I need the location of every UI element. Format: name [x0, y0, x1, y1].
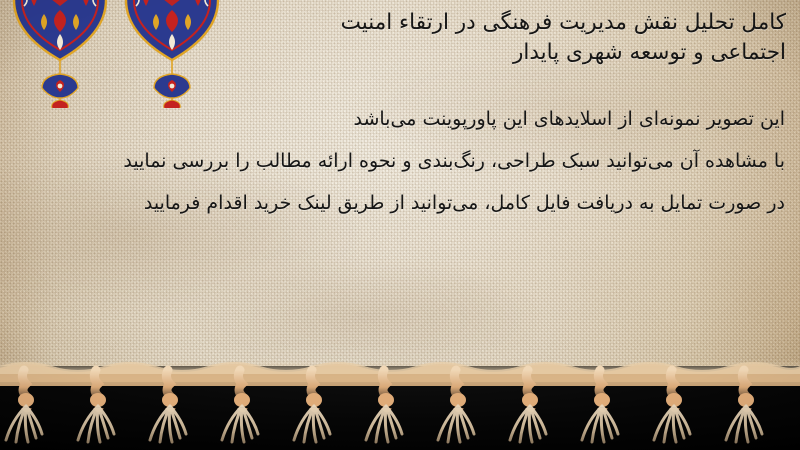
- body-line-3: در صورت تمایل به دریافت فایل کامل، می‌تو…: [10, 192, 785, 214]
- persian-medallion-icon: [8, 0, 112, 108]
- persian-medallion-icon: [120, 0, 224, 108]
- carpet-fringe-tassels: [0, 352, 800, 450]
- slide-canvas: کامل تحلیل نقش مدیریت فرهنگی در ارتقاء ا…: [0, 0, 800, 450]
- slide-title-line-2: اجتماعی و توسعه شهری پایدار: [220, 38, 786, 68]
- slide-title-line-1: کامل تحلیل نقش مدیریت فرهنگی در ارتقاء ا…: [220, 8, 786, 38]
- fringe-icon: [0, 352, 800, 450]
- persian-medallion-ornament-left: [8, 0, 112, 108]
- slide-body: این تصویر نمونه‌ای از اسلایدهای این پاور…: [10, 108, 785, 214]
- body-line-1: این تصویر نمونه‌ای از اسلایدهای این پاور…: [10, 108, 785, 130]
- slide-title: کامل تحلیل نقش مدیریت فرهنگی در ارتقاء ا…: [220, 8, 786, 68]
- body-line-2: با مشاهده آن می‌توانید سبک طراحی، رنگ‌بن…: [10, 150, 785, 172]
- persian-medallion-ornament-right: [120, 0, 224, 108]
